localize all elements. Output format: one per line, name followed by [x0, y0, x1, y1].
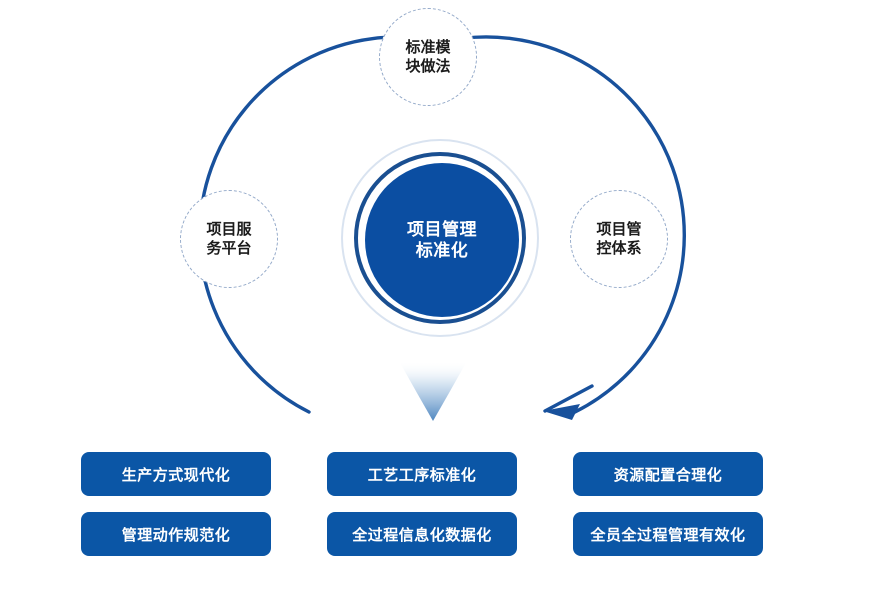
diagram-canvas: 项目管理 标准化 标准模 块做法 项目服 务平台 项目管 控体系 生产方式现代化… [0, 0, 884, 590]
down-arrow-icon [393, 359, 473, 425]
outcome-item[interactable]: 资源配置合理化 [573, 452, 763, 496]
arc-arrow-shaft [545, 386, 592, 411]
arc-arrowhead [543, 404, 580, 420]
outcome-item[interactable]: 工艺工序标准化 [327, 452, 517, 496]
node-top-label: 标准模 块做法 [405, 38, 450, 77]
outcome-item[interactable]: 管理动作规范化 [81, 512, 271, 556]
down-arrow-shape [399, 361, 467, 421]
node-right-label: 项目管 控体系 [596, 220, 641, 259]
central-hub: 项目管理 标准化 [341, 139, 543, 341]
hub-label: 项目管理 标准化 [407, 219, 477, 262]
outcome-item[interactable]: 全过程信息化数据化 [327, 512, 517, 556]
outcome-item[interactable]: 全员全过程管理有效化 [573, 512, 763, 556]
node-project-control-system[interactable]: 项目管 控体系 [570, 190, 668, 288]
node-standard-module-practice[interactable]: 标准模 块做法 [379, 8, 477, 106]
outcome-item[interactable]: 生产方式现代化 [81, 452, 271, 496]
outcome-grid: 生产方式现代化 工艺工序标准化 资源配置合理化 管理动作规范化 全过程信息化数据… [81, 452, 763, 556]
node-project-service-platform[interactable]: 项目服 务平台 [180, 190, 278, 288]
hub-core-circle: 项目管理 标准化 [365, 163, 519, 317]
node-left-label: 项目服 务平台 [206, 220, 251, 259]
